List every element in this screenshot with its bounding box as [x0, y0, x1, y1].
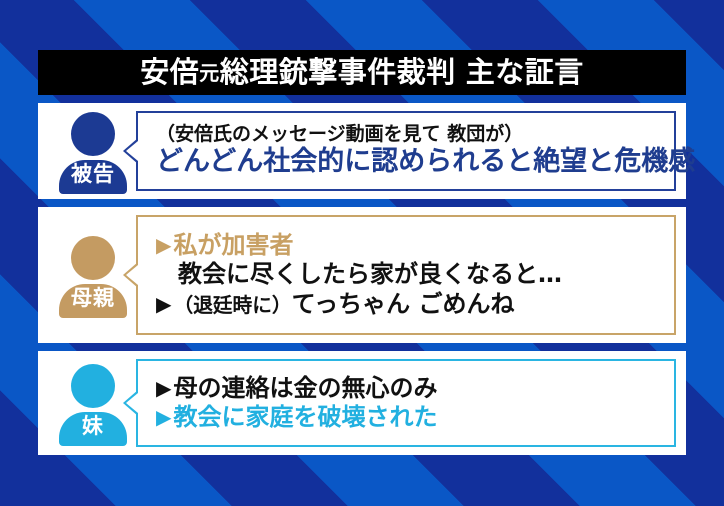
- content-panel: 安倍元総理銃撃事件裁判主な証言 被告 （安倍氏のメッセージ動画を見て 教団が） …: [38, 50, 686, 455]
- role-label-sister: 妹: [52, 416, 134, 437]
- title-bar: 安倍元総理銃撃事件裁判主な証言: [38, 50, 686, 95]
- testimony-line: （安倍氏のメッセージ動画を見て 教団が）: [156, 123, 664, 146]
- speech-bubble-defendant: （安倍氏のメッセージ動画を見て 教団が） どんどん社会的に認められると絶望と危機…: [136, 111, 676, 191]
- title-suffix: 主な証言: [466, 55, 584, 89]
- testimony-text: （安倍氏のメッセージ動画を見て 教団が）: [156, 123, 523, 145]
- testimony-text: 私が加害者: [174, 231, 294, 259]
- testimony-line: 教会に尽くしたら家が良くなると…: [156, 260, 664, 289]
- testimony-subnote: （退廷時に）: [174, 294, 292, 317]
- avatar-defendant: 被告: [52, 110, 134, 192]
- person-silhouette-icon: [71, 236, 115, 280]
- title-middle: 総理銃撃事件裁判: [220, 55, 456, 89]
- testimony-card-mother: 母親 ▶私が加害者 教会に尽くしたら家が良くなると… ▶（退廷時に）てっちゃん …: [38, 207, 686, 343]
- triangle-bullet-icon: ▶: [156, 233, 172, 257]
- bubble-tail-inner-icon: [126, 141, 138, 161]
- testimony-text: 教会に尽くしたら家が良くなると…: [178, 260, 562, 288]
- bubble-tail-inner-icon: [126, 393, 138, 413]
- triangle-bullet-icon: ▶: [156, 405, 172, 429]
- testimony-text: てっちゃん ごめんね: [292, 290, 515, 318]
- triangle-bullet-icon: ▶: [156, 376, 172, 400]
- avatar-mother: 母親: [52, 234, 134, 316]
- title-small-kanji: 元: [199, 61, 220, 85]
- role-label-mother: 母親: [52, 288, 134, 309]
- avatar-sister: 妹: [52, 362, 134, 444]
- bubble-tail-inner-icon: [126, 265, 138, 285]
- page-title: 安倍元総理銃撃事件裁判主な証言: [140, 58, 584, 87]
- testimony-line: ▶私が加害者: [156, 231, 664, 260]
- testimony-text: 母の連絡は金の無心のみ: [174, 374, 438, 402]
- testimony-line: ▶教会に家庭を破壊された: [156, 403, 664, 432]
- testimony-card-sister: 妹 ▶母の連絡は金の無心のみ ▶教会に家庭を破壊された: [38, 351, 686, 455]
- person-silhouette-icon: [71, 112, 115, 156]
- role-label-defendant: 被告: [52, 164, 134, 185]
- testimony-line: どんどん社会的に認められると絶望と危機感: [156, 146, 664, 179]
- person-silhouette-icon: [71, 364, 115, 408]
- title-prefix: 安倍: [140, 55, 199, 89]
- testimony-line: ▶（退廷時に）てっちゃん ごめんね: [156, 290, 664, 319]
- triangle-bullet-icon: ▶: [156, 292, 172, 316]
- speech-bubble-mother: ▶私が加害者 教会に尽くしたら家が良くなると… ▶（退廷時に）てっちゃん ごめん…: [136, 215, 676, 335]
- testimony-line: ▶母の連絡は金の無心のみ: [156, 374, 664, 403]
- speech-bubble-sister: ▶母の連絡は金の無心のみ ▶教会に家庭を破壊された: [136, 359, 676, 447]
- testimony-text: どんどん社会的に認められると絶望と危機感: [156, 146, 695, 177]
- infographic-stage: 安倍元総理銃撃事件裁判主な証言 被告 （安倍氏のメッセージ動画を見て 教団が） …: [0, 0, 724, 506]
- testimony-card-defendant: 被告 （安倍氏のメッセージ動画を見て 教団が） どんどん社会的に認められると絶望…: [38, 103, 686, 199]
- testimony-text: 教会に家庭を破壊された: [174, 403, 438, 431]
